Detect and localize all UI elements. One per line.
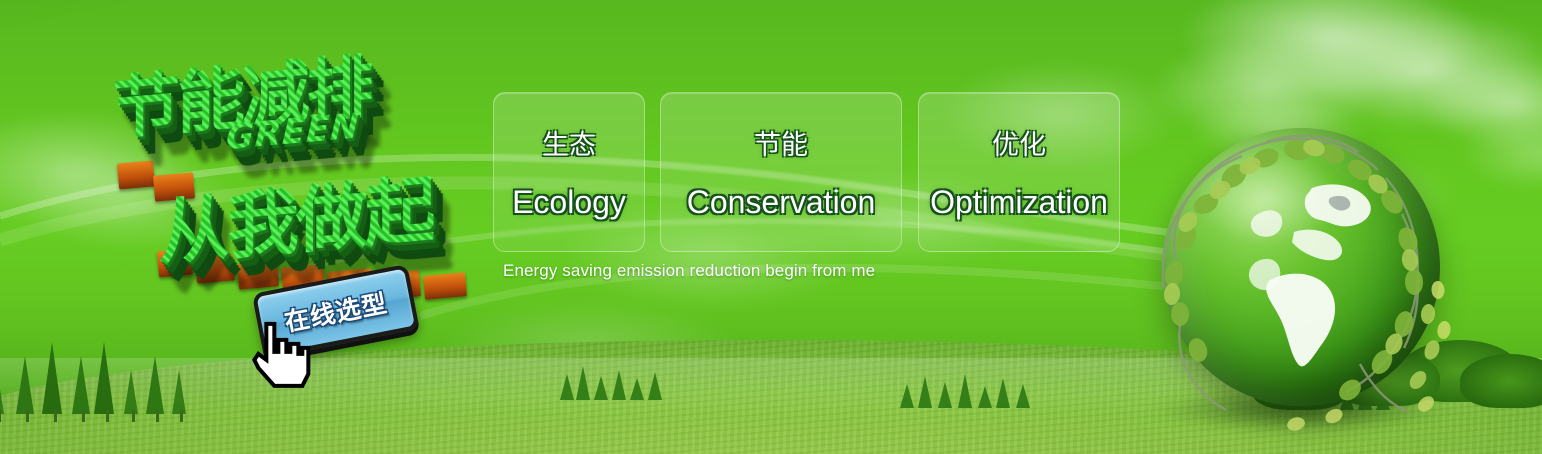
eco-promo-banner: 节能减排 GREEN 从我做起 生态 Ecology 节能 Conservati…	[0, 0, 1542, 454]
feature-card-en-label: Optimization	[930, 184, 1108, 221]
cloud-icon	[1460, 120, 1542, 190]
headline-3d-artwork: 节能减排 GREEN 从我做起	[96, 34, 496, 274]
cloud-icon	[1300, 10, 1542, 130]
feature-card-ecology[interactable]: 生态 Ecology	[493, 92, 645, 252]
globe-gloss	[1195, 150, 1340, 245]
headline-line-2: 从我做起	[159, 150, 434, 279]
online-selection-button-label: 在线选型	[281, 284, 390, 339]
leafy-earth-globe	[1146, 118, 1456, 438]
feature-card-optimization[interactable]: 优化 Optimization	[918, 92, 1120, 252]
feature-card-en-label: Conservation	[687, 184, 876, 221]
cloud-icon	[1180, 0, 1480, 102]
feature-card-en-label: Ecology	[512, 184, 626, 221]
feature-card-cn-label: 优化	[992, 123, 1046, 162]
feature-card-cn-label: 节能	[754, 123, 808, 162]
tagline: Energy saving emission reduction begin f…	[503, 261, 875, 281]
globe-sphere	[1162, 128, 1440, 406]
feature-card-cn-label: 生态	[542, 123, 596, 162]
feature-card-conservation[interactable]: 节能 Conservation	[660, 92, 902, 252]
